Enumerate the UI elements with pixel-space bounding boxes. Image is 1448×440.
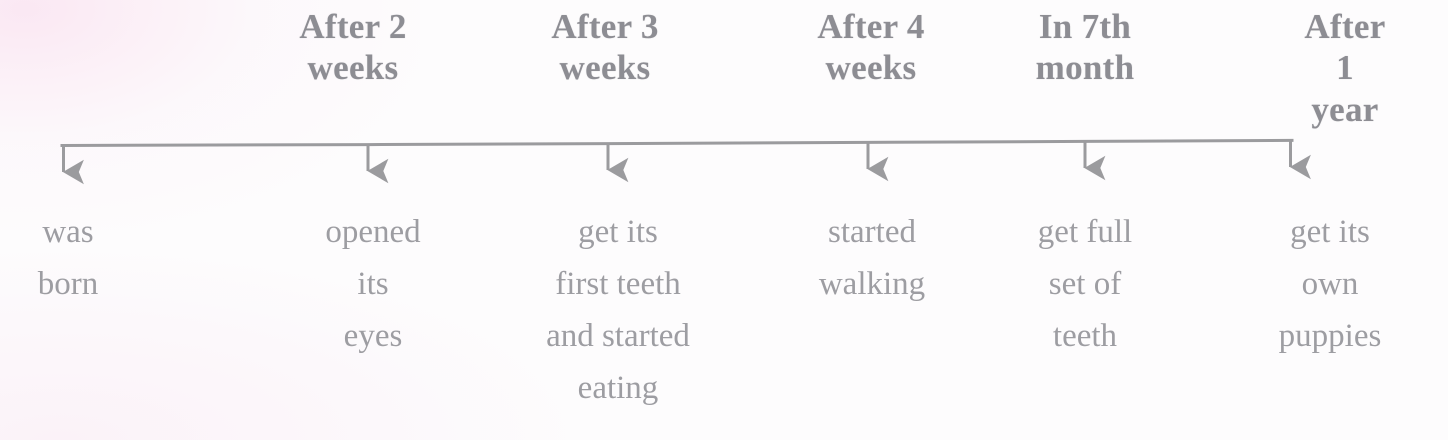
- timeline-axis: [0, 0, 1448, 440]
- milestone-time-label-one-year: After 1 year: [1294, 6, 1397, 130]
- milestone-time-label-two-weeks: After 2 weeks: [299, 6, 406, 89]
- milestone-event-label-three-weeks: get its first teeth and started eating: [546, 206, 690, 415]
- milestone-event-label-one-year: get its own puppies: [1279, 206, 1382, 362]
- milestone-event-label-birth: was born: [38, 206, 99, 310]
- milestone-event-label-four-weeks: started walking: [819, 206, 925, 310]
- milestone-time-label-seventh-month: In 7th month: [1036, 6, 1135, 89]
- milestone-time-label-three-weeks: After 3 weeks: [551, 6, 658, 89]
- milestone-event-label-two-weeks: opened its eyes: [325, 206, 420, 362]
- milestone-time-label-four-weeks: After 4 weeks: [817, 6, 924, 89]
- milestone-event-label-seventh-month: get full set of teeth: [1038, 206, 1132, 362]
- timeline-diagram: After 2 weeks After 3 weeks After 4 week…: [0, 0, 1448, 440]
- axis-line: [62, 140, 1292, 145]
